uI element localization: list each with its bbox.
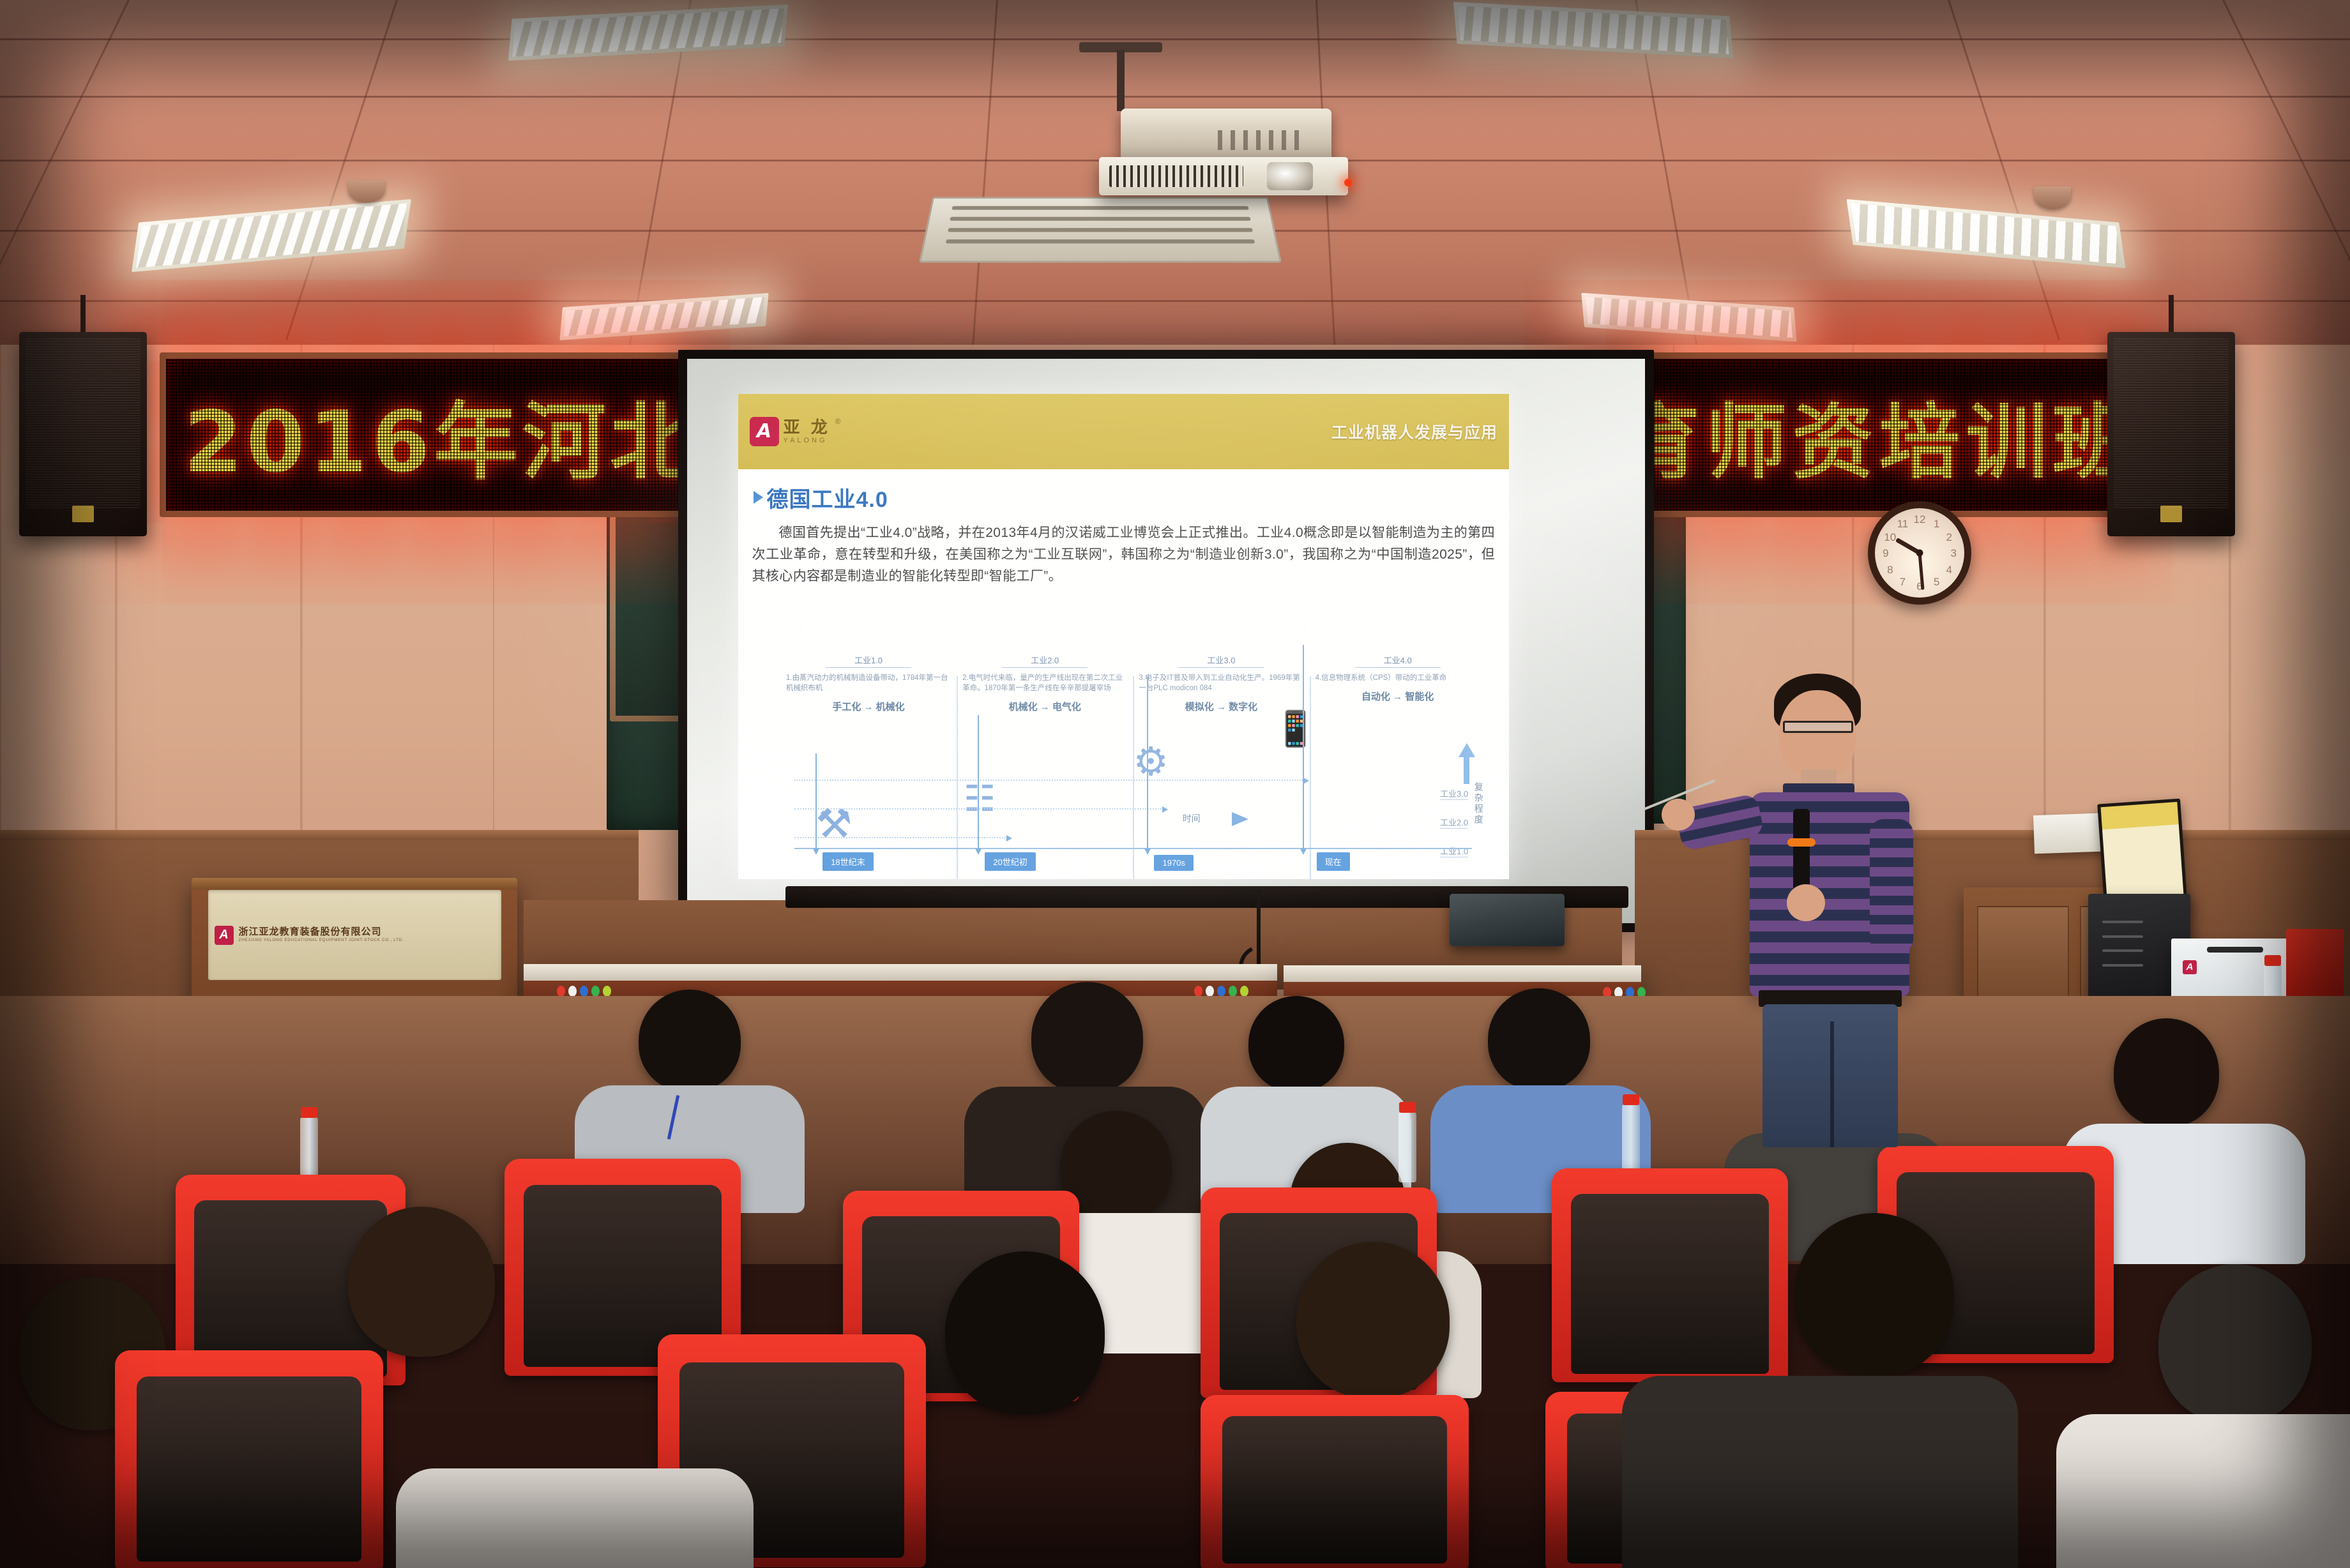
- water-bottle-cap: [301, 1107, 317, 1118]
- yalong-brand-en: YALONG: [784, 437, 831, 444]
- left-speaker: [19, 332, 147, 536]
- desk-monitor: [1450, 894, 1565, 946]
- water-bottle-cap: [1399, 1102, 1416, 1113]
- bullet-triangle-icon: [754, 491, 763, 504]
- audience-head: [348, 1207, 495, 1357]
- led-banner-left-text: 2016年河北省: [184, 374, 695, 496]
- column-heading: 工业2.0: [1002, 654, 1088, 668]
- column-transition: 手工化 → 机械化: [786, 700, 951, 713]
- audience-head: [1296, 1242, 1450, 1398]
- speaker-logo-badge: [72, 506, 94, 522]
- era-badge-4: 现在: [1317, 852, 1350, 871]
- podium-company-en: ZHEJIANG YALONG EDUCATIONAL EQUIPMENT JO…: [239, 939, 404, 943]
- column-heading: 工业4.0: [1355, 654, 1441, 668]
- podium-nameplate: A 浙江亚龙教育装备股份有限公司 ZHEJIANG YALONG EDUCATI…: [208, 890, 501, 980]
- audience-shoulders: [396, 1468, 754, 1568]
- slide-title: 德国工业4.0: [767, 482, 888, 513]
- complexity-axis-stem: [1464, 757, 1469, 784]
- diagram-baseline: [794, 848, 1472, 849]
- projector-lens: [1267, 162, 1313, 190]
- column-transition: 自动化 → 智能化: [1315, 690, 1480, 703]
- podium-logo-mark: A: [215, 926, 234, 945]
- audience-chair[interactable]: [1552, 1168, 1788, 1382]
- audience-head: [1794, 1213, 1954, 1376]
- yalong-logo-mark: A: [750, 417, 779, 446]
- water-bottle: [1622, 1104, 1640, 1175]
- slide-paragraph: 德国首先提出“工业4.0”战略，并在2013年4月的汉诺威工业博览会上正式推出。…: [752, 522, 1496, 587]
- presenter-right-hand: [1662, 799, 1695, 831]
- audience-chair[interactable]: [115, 1350, 383, 1568]
- column-transition: 机械化 → 电气化: [962, 700, 1127, 713]
- registered-mark-icon: ®: [835, 417, 841, 426]
- wall-clock: 12 1 2 3 4 5 6 7 8 9 10 11: [1868, 501, 1971, 605]
- presenter-left-hand: [1787, 884, 1825, 921]
- complexity-axis-label: 复杂程度: [1473, 782, 1485, 825]
- microphone-ring: [1787, 838, 1816, 847]
- industry-evolution-diagram: 工业1.0 1.由蒸汽动力的机械制造设备带动，1784年第一台机械织布机 手工化…: [780, 654, 1486, 871]
- tier-label-2: 工业2.0: [1440, 816, 1468, 829]
- audience-head: [639, 990, 741, 1092]
- column-heading: 工业1.0: [826, 654, 911, 668]
- presenter: [1711, 674, 1980, 1146]
- draw-box-logo-mark: A: [2183, 960, 2197, 974]
- led-banner-right-text: 育师资培训班: [1618, 376, 2129, 494]
- audience-shoulders: [2056, 1414, 2350, 1568]
- slide-body: 德国工业4.0 德国首先提出“工业4.0”战略，并在2013年4月的汉诺威工业博…: [738, 469, 1510, 879]
- podium-company-cn: 浙江亚龙教育装备股份有限公司: [239, 927, 404, 937]
- tier-label-1: 工业1.0: [1440, 845, 1468, 857]
- presenter-glasses: [1783, 721, 1853, 733]
- era-badge-2: 20世纪初: [985, 852, 1035, 871]
- projector-power-led: [1344, 179, 1352, 186]
- loom-icon: ⚒: [815, 800, 852, 848]
- audience-chair[interactable]: [1201, 1395, 1469, 1568]
- era-badge-1: 18世纪末: [822, 852, 873, 871]
- tier-label-3: 工业3.0: [1440, 787, 1468, 800]
- time-axis-arrow-icon: [1232, 812, 1248, 826]
- led-banner-left: 2016年河北省: [160, 352, 695, 517]
- lecture-hall-photo: 2016年河北省 育师资培训班 12 1 2 3 4 5 6 7 8 9 10 …: [0, 0, 2350, 1568]
- complexity-axis-arrow-icon: [1459, 743, 1475, 757]
- audience-head: [2158, 1264, 2312, 1424]
- slide-title-row: 德国工业4.0: [754, 482, 1496, 513]
- desk-indicator-lights-left: [557, 986, 611, 997]
- desk-indicator-lights-mid: [1194, 986, 1248, 997]
- era-badge-3: 1970s: [1154, 855, 1193, 871]
- column-heading: 工业3.0: [1178, 654, 1264, 668]
- led-banner-right: 育师资培训班: [1596, 352, 2129, 517]
- yalong-logo: A 亚 龙 YALONG ®: [750, 417, 841, 446]
- iot-network-icon: 📱: [1274, 709, 1317, 750]
- column-detail: 4.信息物理系统（CPS）带动的工业革命: [1315, 673, 1480, 683]
- audience-head: [1248, 996, 1344, 1092]
- water-bottle: [1399, 1112, 1416, 1182]
- diagram-plot-area: ⚒ ☷ ⚙ 📱 工业3.0 工业2.0 工业1.0: [780, 741, 1486, 871]
- time-axis-label: 时间: [1183, 812, 1201, 825]
- slide-header: A 亚 龙 YALONG ® 工业机器人发展与应用: [738, 394, 1510, 469]
- air-conditioning-vent: [919, 197, 1282, 263]
- water-bottle-cap: [2264, 955, 2281, 966]
- ceiling: [0, 0, 2350, 358]
- speaker-logo-badge: [2160, 506, 2182, 522]
- audience-shoulders: [1622, 1376, 2018, 1568]
- red-cup-stack: [2286, 929, 2344, 999]
- presenter-head: [1779, 690, 1856, 780]
- tier-dash-line-1: [794, 837, 1006, 838]
- audience-head: [1488, 988, 1590, 1090]
- robot-arm-icon: ⚙: [1133, 738, 1169, 785]
- diagram-column-industry-2-0: 工业2.0 2.电气时代来临，量产的生产线出现在第二次工业革命。1870年第一条…: [957, 654, 1133, 741]
- water-bottle-cap: [1623, 1094, 1639, 1105]
- audience-head: [2114, 1018, 2219, 1127]
- diagram-column-industry-4-0: 工业4.0 4.信息物理系统（CPS）带动的工业革命 自动化 → 智能化: [1310, 654, 1486, 741]
- assembly-line-icon: ☷: [964, 778, 996, 820]
- column-detail: 1.由蒸汽动力的机械制造设备带动，1784年第一台机械织布机: [786, 673, 951, 694]
- yalong-brand-cn: 亚 龙: [784, 419, 831, 435]
- audience-head: [945, 1251, 1105, 1414]
- projection-screen: A 亚 龙 YALONG ® 工业机器人发展与应用 德国工业4.0 德国首: [678, 350, 1654, 932]
- tier-dash-line-3: [794, 780, 1303, 781]
- slide-course-title: 工业机器人发展与应用: [1331, 420, 1497, 443]
- diagram-column-industry-1-0: 工业1.0 1.由蒸汽动力的机械制造设备带动，1784年第一台机械织布机 手工化…: [780, 654, 957, 741]
- presentation-slide: A 亚 龙 YALONG ® 工业机器人发展与应用 德国工业4.0 德国首: [738, 394, 1510, 879]
- right-speaker: [2107, 332, 2235, 536]
- clock-face: 12 1 2 3 4 5 6 7 8 9 10 11: [1875, 508, 1964, 598]
- audience-head: [1031, 982, 1143, 1094]
- presenter-legs: [1762, 1004, 1898, 1147]
- column-detail: 2.电气时代来临，量产的生产线出现在第二次工业革命。1870年第一条生产线在辛辛…: [962, 673, 1127, 694]
- column-detail: 3.电子及IT普及带入到工业自动化生产。1969年第一台PLC modicon …: [1139, 673, 1303, 694]
- presenter-left-arm: [1870, 819, 1913, 953]
